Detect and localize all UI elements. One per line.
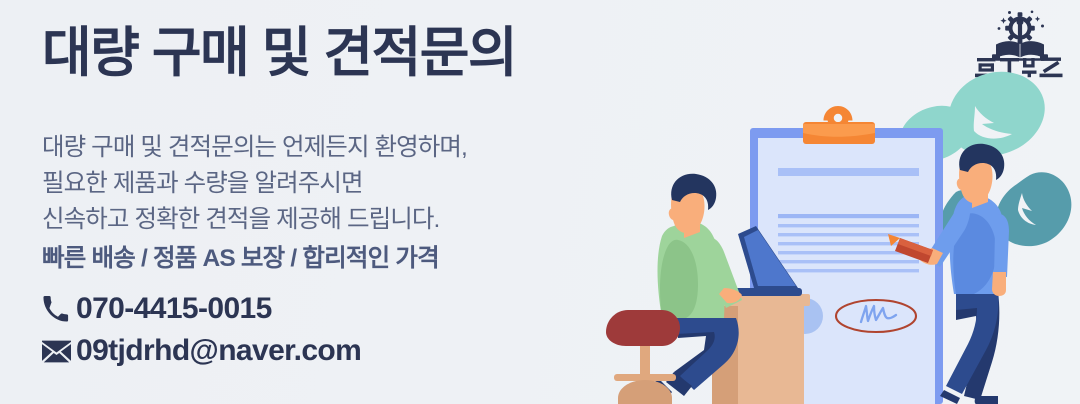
orange-clip (803, 106, 875, 144)
phone-icon (42, 296, 76, 323)
description-line: 신속하고 정확한 견적을 제공해 드립니다. (42, 202, 602, 238)
page-title: 대량 구매 및 견적문의 (42, 26, 516, 80)
promo-banner: 대량 구매 및 견적문의 대량 구매 및 견적문의는 언제든지 환영하며, 필요… (0, 0, 1080, 404)
description-line: 필요한 제품과 수량을 알려주시면 (42, 166, 602, 202)
stool (606, 310, 680, 404)
description-block: 대량 구매 및 견적문의는 언제든지 환영하며, 필요한 제품과 수량을 알려주… (42, 130, 602, 277)
phone-number: 070-4415-0015 (76, 292, 272, 326)
envelope-icon (42, 340, 76, 363)
contact-email-row[interactable]: 09tjdrhd@naver.com (42, 332, 361, 370)
email-address: 09tjdrhd@naver.com (76, 334, 361, 368)
contact-block: 070-4415-0015 09tjdrhd@naver.com (42, 290, 361, 374)
text-column: 대량 구매 및 견적문의 대량 구매 및 견적문의는 언제든지 환영하며, 필요… (40, 0, 640, 404)
description-line: 대량 구매 및 견적문의는 언제든지 환영하며, (42, 130, 602, 166)
contact-phone-row[interactable]: 070-4415-0015 (42, 290, 361, 328)
benefits-line: 빠른 배송 / 정품 AS 보장 / 합리적인 가격 (42, 238, 602, 277)
quotation-clipboard-illustration (600, 0, 1080, 404)
